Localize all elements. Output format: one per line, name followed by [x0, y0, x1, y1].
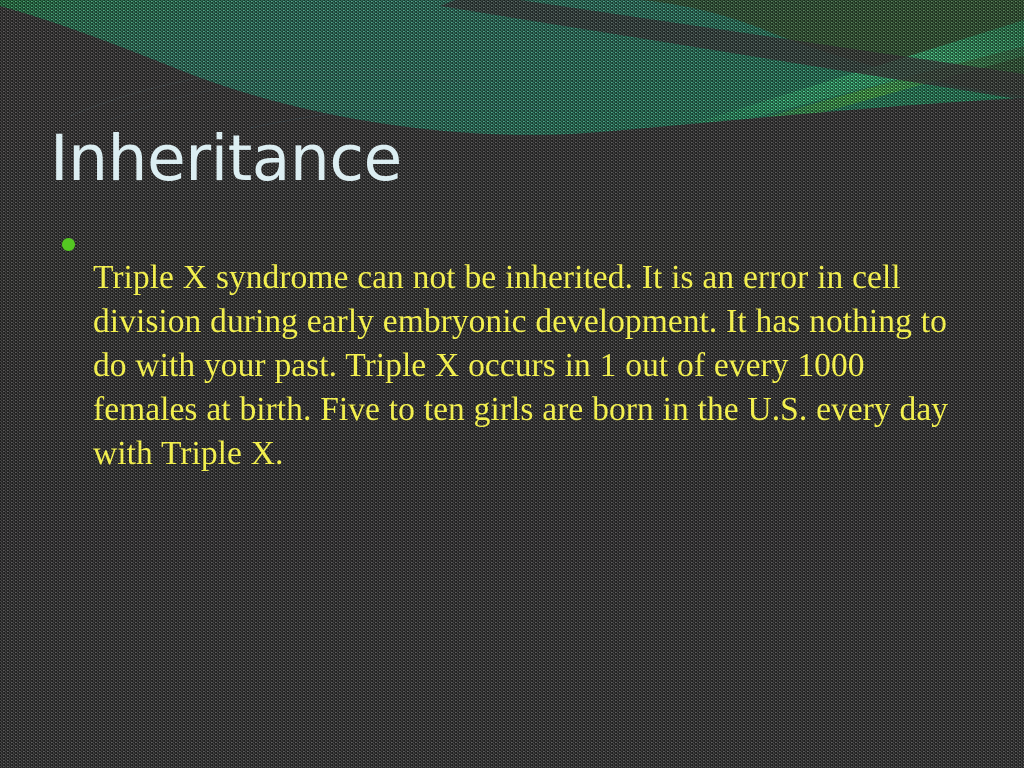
slide-body: Triple X syndrome can not be inherited. … — [62, 222, 974, 509]
bullet-item-text: Triple X syndrome can not be inherited. … — [93, 256, 974, 476]
slide-content: Inheritance Triple X syndrome can not be… — [0, 0, 1024, 768]
bullet-dot-icon — [62, 238, 75, 251]
bullet-marker — [62, 222, 93, 251]
slide-title: Inheritance — [50, 127, 402, 191]
presentation-slide: Inheritance Triple X syndrome can not be… — [0, 0, 1024, 768]
bullet-list-item: Triple X syndrome can not be inherited. … — [62, 222, 974, 509]
